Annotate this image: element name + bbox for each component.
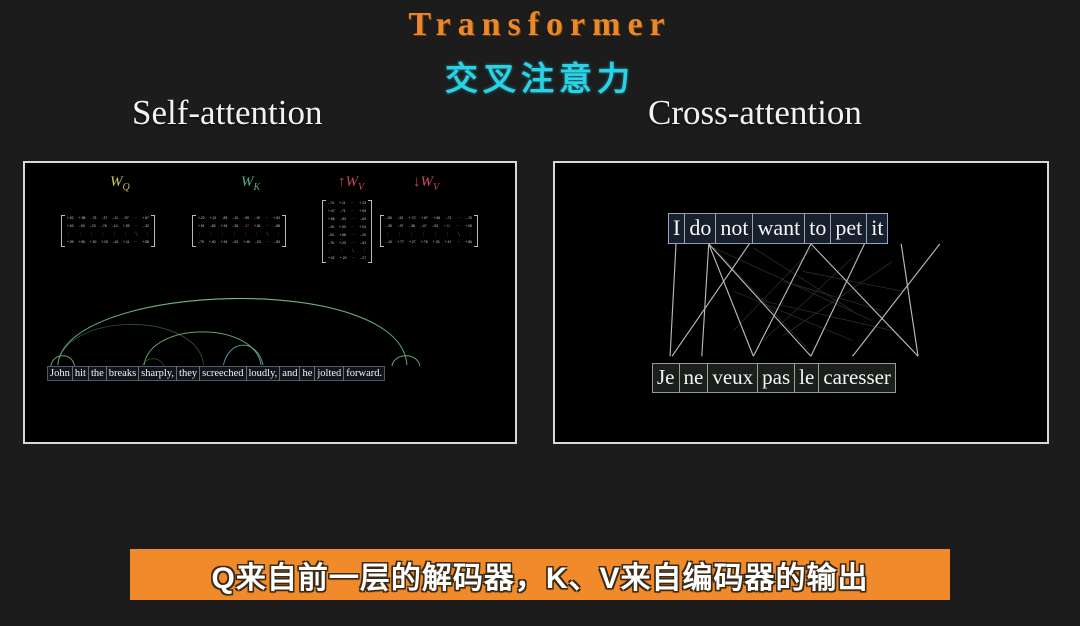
sentence-token: John [47,366,73,381]
sentence-token: sharply, [138,366,177,381]
sentence-token: hit [72,366,89,381]
caption-text: Q来自前一层的解码器，K、V来自编码器的输出 [211,553,868,597]
cross-target-token: ne [679,363,709,393]
caption-banner: Q来自前一层的解码器，K、V来自编码器的输出 [130,549,950,600]
cross-target-token: caresser [818,363,896,393]
cross-target-token: pas [757,363,795,393]
self-attention-panel: WQ WK ↑WV ↓WV +.52+.98-.75-.37-.11-.97⋯+… [23,161,517,444]
cross-source-tokens: Idonotwanttopetit [668,213,887,244]
cross-source-token: not [715,213,753,244]
self-attention-arcs [25,163,515,442]
cross-source-token: pet [830,213,867,244]
heading-self-attention: Self-attention [132,93,323,133]
sentence-token: the [88,366,107,381]
cross-target-tokens: Jeneveuxpaslecaresser [652,363,895,393]
sentence-token: breaks [106,366,139,381]
cross-source-token: do [684,213,716,244]
cross-target-token: Je [652,363,680,393]
cross-source-token: it [866,213,888,244]
sentence-token: and [279,366,300,381]
cross-target-token: veux [707,363,758,393]
cross-attention-panel: Idonotwanttopetit Jeneveuxpaslecaresser [553,161,1049,444]
sentence-token: they [176,366,200,381]
heading-cross-attention: Cross-attention [648,93,862,133]
cross-attention-links [555,163,1047,442]
slide-canvas: Transformer 交叉注意力 Self-attention Cross-a… [0,0,1080,626]
sentence-token: loudly, [246,366,281,381]
sentence-token: screeched [199,366,246,381]
cross-source-token: want [752,213,805,244]
sentence-token: forward. [343,366,385,381]
self-attention-sentence: Johnhitthebreakssharply,theyscreechedlou… [47,366,384,381]
sentence-token: he [299,366,315,381]
cross-source-token: to [804,213,831,244]
page-title: Transformer [0,6,1080,44]
cross-source-token: I [668,213,685,244]
sentence-token: jolted [314,366,344,381]
cross-target-token: le [794,363,819,393]
